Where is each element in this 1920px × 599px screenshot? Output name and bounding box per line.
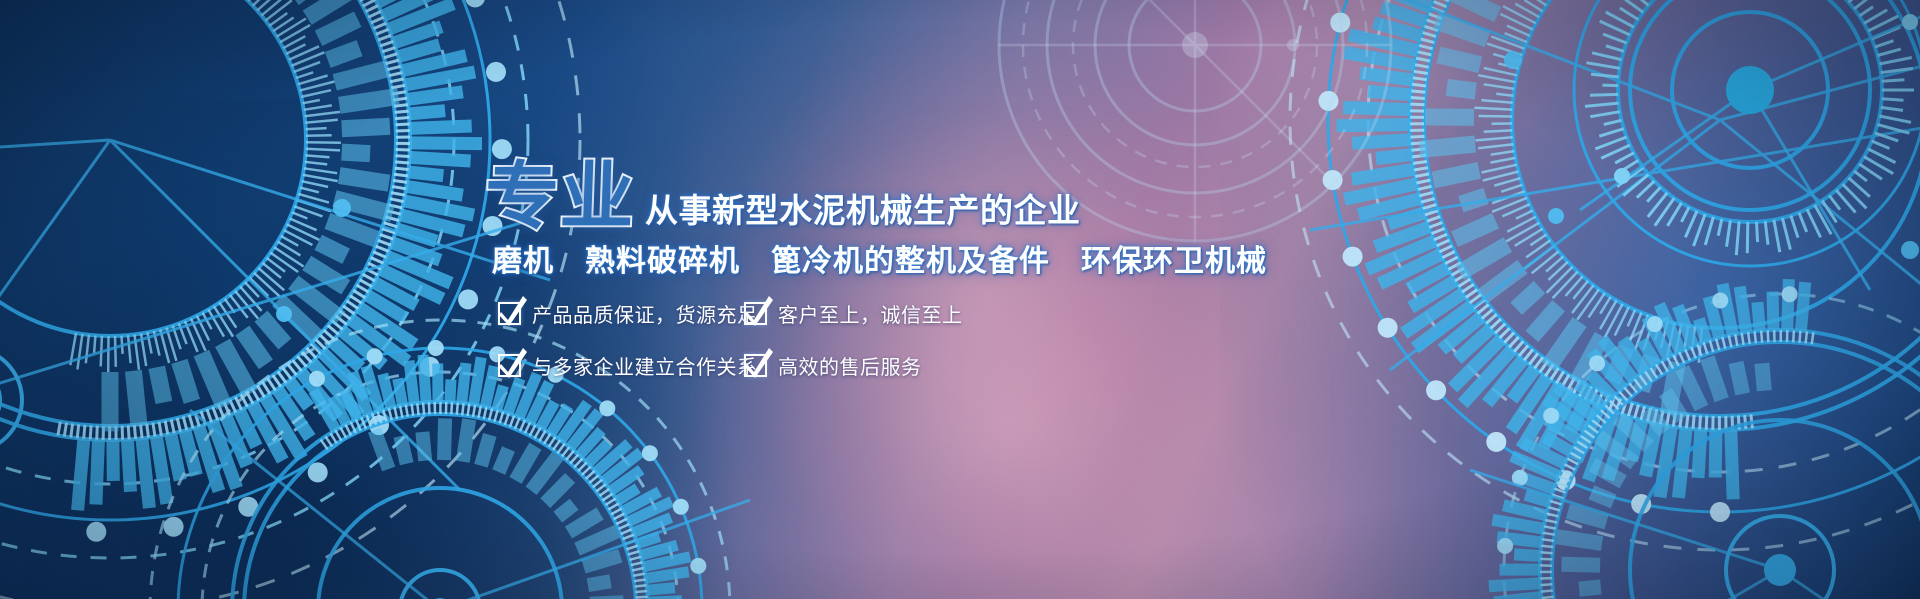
- list-item-label: 高效的售后服务: [778, 351, 922, 380]
- checkbox-checked-icon: [744, 354, 767, 377]
- hero-banner: 专业 从事新型水泥机械生产的企业 磨机 熟料破碎机 篦冷机的整机及备件 环保环卫…: [0, 0, 1920, 599]
- list-item: 产品品质保证，货源充足: [498, 288, 744, 338]
- checkbox-checked-icon: [498, 302, 521, 325]
- banner-content: 专业 从事新型水泥机械生产的企业 磨机 熟料破碎机 篦冷机的整机及备件 环保环卫…: [0, 0, 1920, 599]
- list-item-label: 与多家企业建立合作关系: [532, 351, 758, 380]
- list-item: 高效的售后服务: [744, 340, 963, 390]
- list-item: 与多家企业建立合作关系: [498, 340, 744, 390]
- list-item-label: 产品品质保证，货源充足: [532, 299, 758, 328]
- headline-emphasis: 专业: [484, 162, 636, 232]
- headline-rest: 从事新型水泥机械生产的企业: [645, 194, 1081, 232]
- checkbox-checked-icon: [498, 354, 521, 377]
- list-item-label: 客户至上，诚信至上: [778, 299, 963, 328]
- page-title: 专业 从事新型水泥机械生产的企业: [485, 162, 1081, 232]
- feature-list: 产品品质保证，货源充足 客户至上，诚信至上 与多家企业建立合作关系: [498, 288, 963, 390]
- checkbox-checked-icon: [744, 302, 767, 325]
- list-item: 客户至上，诚信至上: [744, 288, 963, 338]
- product-subline: 磨机 熟料破碎机 篦冷机的整机及备件 环保环卫机械: [492, 236, 1267, 280]
